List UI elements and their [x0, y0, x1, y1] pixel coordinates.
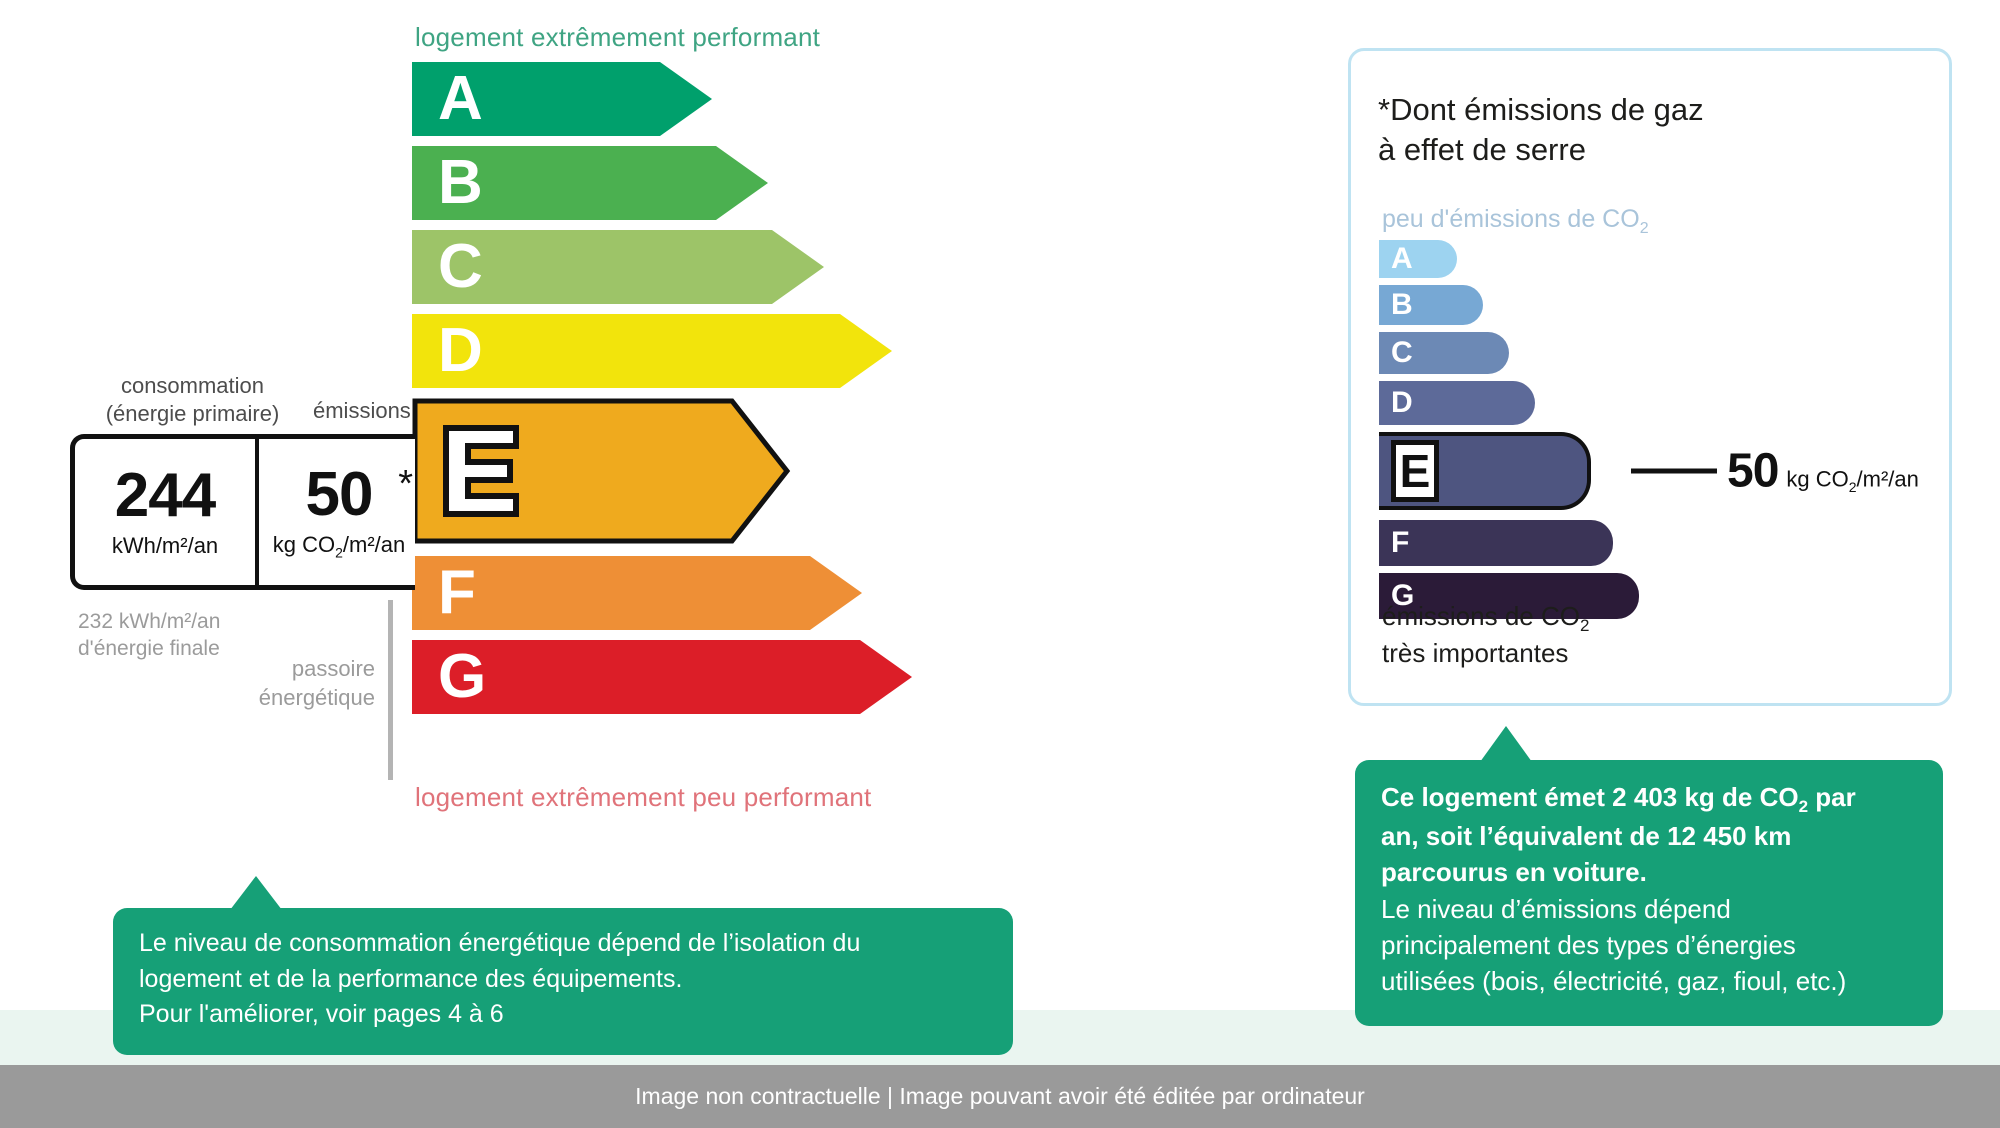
arrow-shape-f: [412, 556, 862, 630]
energy-letter-a: A: [438, 68, 483, 130]
co2-bar-a: A: [1379, 240, 1457, 278]
co2-current-letter-box: E: [1391, 440, 1439, 502]
callout-right-bold: Ce logement émet 2 403 kg de CO2 par an,…: [1381, 780, 1917, 890]
co2-letter-c: C: [1391, 338, 1413, 368]
scale-caption-bottom: logement extrêmement peu performant: [415, 782, 871, 813]
callout-right-normal: Le niveau d’émissions dépend principalem…: [1381, 892, 1917, 1000]
callout-right: Ce logement émet 2 403 kg de CO2 par an,…: [1355, 760, 1943, 1026]
co2-scale-bars: A B C D E 50kg CO2/: [1379, 240, 1639, 626]
energy-scale-panel: logement extrêmement performant A B C: [0, 0, 1300, 1060]
energy-row-d: D: [412, 314, 912, 388]
co2-letter-d: D: [1391, 388, 1413, 418]
energy-row-e: [412, 398, 912, 544]
energy-row-g: G: [412, 640, 912, 714]
scale-caption-top: logement extrêmement performant: [415, 22, 820, 53]
arrow-shape-g: [412, 640, 912, 714]
emissions-unit: kg CO2/m²/an: [273, 532, 406, 560]
callout-left: Le niveau de consommation énergétique dé…: [113, 908, 1013, 1055]
footer-text: Image non contractuelle | Image pouvant …: [635, 1083, 1365, 1110]
co2-row-e: E 50kg CO2/m²/an: [1379, 432, 1639, 510]
co2-bar-d: D: [1379, 381, 1535, 425]
co2-bar-b: B: [1379, 285, 1483, 325]
co2-bar-c: C: [1379, 332, 1509, 374]
energy-letter-d: D: [438, 320, 483, 382]
energy-row-a: A: [412, 62, 912, 136]
co2-row-c: C: [1379, 332, 1639, 374]
energy-row-f: F: [412, 556, 912, 630]
consumption-label-primary: consommation (énergie primaire): [85, 372, 300, 427]
co2-letter-a: A: [1391, 244, 1413, 274]
callout-right-pointer: [1480, 726, 1532, 762]
energy-row-c: C: [412, 230, 912, 304]
footer-bar: Image non contractuelle | Image pouvant …: [0, 1065, 2000, 1128]
co2-letter-f: F: [1391, 528, 1409, 558]
energy-row-b: B: [412, 146, 912, 220]
co2-row-b: B: [1379, 285, 1639, 325]
energy-letter-g: G: [438, 646, 486, 708]
emissions-value: 50: [306, 464, 373, 526]
arrow-shape-d: [412, 314, 892, 388]
co2-current-value: 50kg CO2/m²/an: [1727, 444, 1919, 499]
co2-leader-line: [1631, 469, 1717, 474]
co2-scale-caption-top: peu d'émissions de CO2: [1382, 205, 1649, 238]
co2-bar-e: E: [1379, 432, 1591, 510]
primary-energy-value: 244: [115, 465, 215, 527]
dpe-diagram: logement extrêmement performant A B C: [0, 0, 2000, 1128]
energy-letter-b: B: [438, 152, 483, 214]
primary-energy-unit: kWh/m²/an: [112, 533, 218, 559]
co2-panel-title: *Dont émissions de gaz à effet de serre: [1378, 90, 1848, 169]
co2-letter-b: B: [1391, 290, 1413, 320]
emissions-cell: * 50 kg CO2/m²/an: [255, 439, 419, 585]
co2-bar-f: F: [1379, 520, 1613, 566]
energy-letter-c: C: [438, 236, 483, 298]
consumption-value-box: 244 kWh/m²/an * 50 kg CO2/m²/an: [70, 434, 415, 590]
energy-scale-bars: A B C D: [412, 62, 912, 724]
co2-letter-e: E: [1400, 448, 1431, 494]
co2-row-d: D: [1379, 381, 1639, 425]
energy-letter-f: F: [438, 562, 476, 624]
co2-scale-caption-bottom: émissions de CO2 très importantes: [1382, 600, 1589, 671]
co2-row-a: A: [1379, 240, 1639, 278]
primary-energy-cell: 244 kWh/m²/an: [75, 439, 255, 585]
passoire-label: passoire énergétique: [190, 655, 375, 712]
co2-row-f: F: [1379, 520, 1639, 566]
consumption-label-emissions: émissions: [313, 398, 411, 424]
asterisk-marker: *: [398, 465, 413, 503]
arrow-shape-e: [412, 398, 792, 544]
passoire-bracket: [388, 600, 393, 780]
callout-left-pointer: [230, 876, 282, 910]
